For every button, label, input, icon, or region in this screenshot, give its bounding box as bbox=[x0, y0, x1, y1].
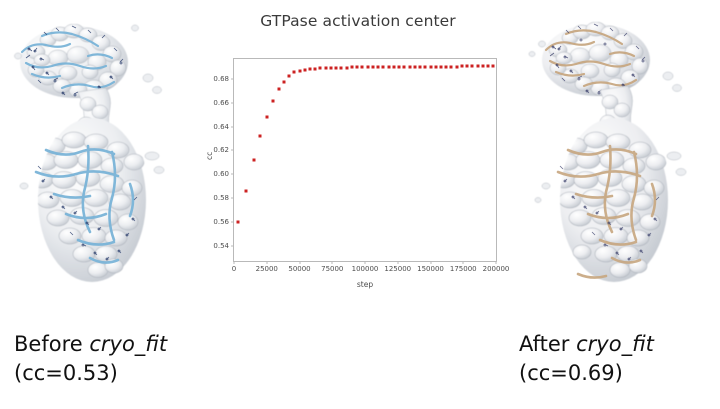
data-point bbox=[445, 65, 448, 68]
data-point bbox=[361, 66, 364, 69]
data-point bbox=[314, 67, 317, 70]
x-tick-mark bbox=[397, 261, 398, 264]
data-point bbox=[387, 65, 390, 68]
data-point bbox=[356, 66, 359, 69]
x-tick-label: 75000 bbox=[321, 265, 343, 273]
data-point bbox=[371, 66, 374, 69]
chart-title: GTPase activation center bbox=[203, 12, 513, 30]
y-tick-label: 0.68 bbox=[213, 75, 229, 83]
caption-before-tool-name: cryo_fit bbox=[89, 332, 167, 356]
x-tick-label: 200000 bbox=[483, 265, 510, 273]
y-tick-label: 0.66 bbox=[213, 99, 229, 107]
data-point bbox=[272, 99, 275, 102]
data-point bbox=[424, 65, 427, 68]
x-tick-label: 175000 bbox=[450, 265, 477, 273]
data-point bbox=[259, 135, 262, 138]
data-point bbox=[487, 65, 490, 68]
y-tick-label: 0.58 bbox=[213, 194, 229, 202]
data-point bbox=[429, 65, 432, 68]
x-tick-label: 25000 bbox=[256, 265, 278, 273]
x-tick-mark bbox=[266, 261, 267, 264]
y-tick-label: 0.54 bbox=[213, 242, 229, 250]
caption-after-tool-name: cryo_fit bbox=[576, 332, 654, 356]
data-point bbox=[340, 66, 343, 69]
data-point bbox=[252, 159, 255, 162]
y-tick-mark bbox=[231, 150, 234, 151]
data-point bbox=[413, 65, 416, 68]
x-tick-label: 0 bbox=[232, 265, 236, 273]
molecule-render-after bbox=[518, 0, 718, 320]
data-point bbox=[345, 66, 348, 69]
x-tick-mark bbox=[496, 261, 497, 264]
data-point bbox=[476, 65, 479, 68]
caption-before: Before cryo_fit (cc=0.53) bbox=[14, 330, 167, 388]
data-point bbox=[308, 68, 311, 71]
y-tick-mark bbox=[231, 79, 234, 80]
data-point bbox=[471, 65, 474, 68]
caption-after: After cryo_fit (cc=0.69) bbox=[519, 330, 654, 388]
data-point bbox=[282, 80, 285, 83]
y-tick-label: 0.64 bbox=[213, 123, 229, 131]
data-point bbox=[236, 220, 239, 223]
data-point bbox=[324, 67, 327, 70]
density-upper-lobe-before bbox=[15, 24, 162, 98]
molecule-panel-after bbox=[518, 0, 718, 320]
caption-before-prefix: Before bbox=[14, 332, 89, 356]
data-point bbox=[455, 65, 458, 68]
data-point bbox=[403, 65, 406, 68]
data-point bbox=[350, 66, 353, 69]
molecule-panel-before bbox=[2, 0, 202, 320]
data-point bbox=[408, 65, 411, 68]
y-tick-label: 0.56 bbox=[213, 218, 229, 226]
x-tick-label: 150000 bbox=[417, 265, 444, 273]
plot-area bbox=[234, 59, 496, 261]
y-tick-mark bbox=[231, 102, 234, 103]
x-axis-label: step bbox=[233, 280, 497, 289]
y-tick-mark bbox=[231, 245, 234, 246]
density-lower-lobe-before bbox=[20, 118, 164, 282]
y-tick-mark bbox=[231, 198, 234, 199]
caption-before-cc: (cc=0.53) bbox=[14, 359, 167, 388]
data-point bbox=[298, 69, 301, 72]
data-point bbox=[293, 71, 296, 74]
density-upper-lobe-after bbox=[529, 22, 682, 96]
x-tick-mark bbox=[234, 261, 235, 264]
data-point bbox=[319, 67, 322, 70]
caption-after-cc: (cc=0.69) bbox=[519, 359, 654, 388]
plot-frame: 0.540.560.580.600.620.640.660.6802500050… bbox=[233, 58, 497, 262]
data-point bbox=[382, 66, 385, 69]
chart-figure: GTPase activation center 0.540.560.580.6… bbox=[203, 8, 513, 308]
x-tick-label: 100000 bbox=[352, 265, 379, 273]
x-tick-mark bbox=[299, 261, 300, 264]
x-tick-label: 125000 bbox=[384, 265, 411, 273]
x-tick-mark bbox=[365, 261, 366, 264]
x-tick-mark bbox=[463, 261, 464, 264]
data-point bbox=[398, 65, 401, 68]
data-point bbox=[277, 87, 280, 90]
y-tick-mark bbox=[231, 174, 234, 175]
data-point bbox=[244, 189, 247, 192]
x-tick-label: 50000 bbox=[288, 265, 310, 273]
data-point bbox=[392, 65, 395, 68]
y-tick-label: 0.62 bbox=[213, 146, 229, 154]
data-point bbox=[377, 66, 380, 69]
data-point bbox=[419, 65, 422, 68]
data-point bbox=[288, 74, 291, 77]
data-point bbox=[466, 65, 469, 68]
y-tick-mark bbox=[231, 221, 234, 222]
y-tick-mark bbox=[231, 126, 234, 127]
data-point bbox=[335, 66, 338, 69]
data-point bbox=[265, 116, 268, 119]
data-point bbox=[434, 65, 437, 68]
data-point bbox=[492, 65, 495, 68]
caption-after-prefix: After bbox=[519, 332, 576, 356]
data-point bbox=[303, 68, 306, 71]
density-lower-lobe-after bbox=[535, 118, 686, 282]
y-tick-label: 0.60 bbox=[213, 170, 229, 178]
y-axis-label: cc bbox=[205, 152, 214, 160]
x-tick-mark bbox=[430, 261, 431, 264]
data-point bbox=[439, 65, 442, 68]
data-point bbox=[481, 65, 484, 68]
data-point bbox=[366, 66, 369, 69]
data-point bbox=[450, 65, 453, 68]
data-point bbox=[460, 65, 463, 68]
data-point bbox=[329, 66, 332, 69]
x-tick-mark bbox=[332, 261, 333, 264]
molecule-render-before bbox=[2, 0, 202, 320]
